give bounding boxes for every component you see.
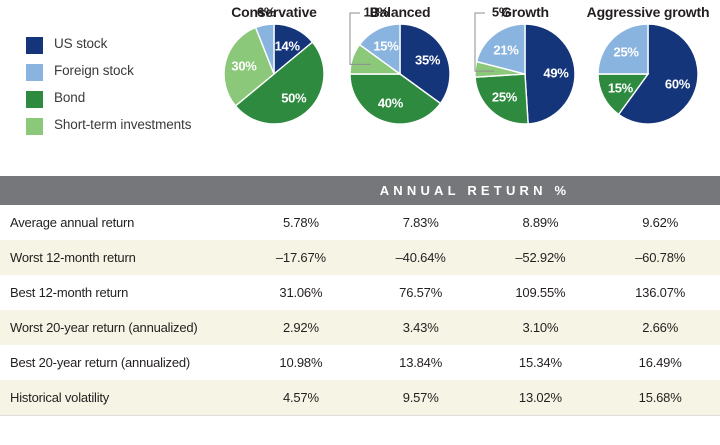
row-value-growth: 15.34% [481,345,601,380]
table-row: Worst 20-year return (annualized)2.92%3.… [0,310,720,345]
row-value-growth: 8.89% [481,205,601,240]
table-row: Average annual return5.78%7.83%8.89%9.62… [0,205,720,240]
pie-chart-growth: Growth 49%25%5%21% [455,0,595,128]
row-value-conservative: 5.78% [241,205,361,240]
pie-svg [471,20,579,128]
pie-chart-area: US stock Foreign stock Bond Short-term i… [0,0,720,176]
legend-label-us-stock: US stock [54,36,107,52]
pie-title-aggressive-growth: Aggressive growth [578,4,718,20]
legend-label-foreign-stock: Foreign stock [54,63,134,79]
returns-table: Average annual return5.78%7.83%8.89%9.62… [0,205,720,415]
row-value-growth: 3.10% [481,310,601,345]
row-label: Average annual return [0,205,241,240]
row-value-conservative: 4.57% [241,380,361,415]
pie-title-conservative: Conservative [204,4,344,20]
row-label: Historical volatility [0,380,241,415]
row-value-growth: 109.55% [481,275,601,310]
row-value-aggressive-growth: 2.66% [600,310,720,345]
row-value-conservative: 2.92% [241,310,361,345]
row-value-balanced: 13.84% [361,345,481,380]
table-footer-strip [0,415,720,434]
row-value-aggressive-growth: –60.78% [600,240,720,275]
row-value-balanced: 3.43% [361,310,481,345]
legend-item-short-term: Short-term investments [26,117,196,135]
returns-table-body: Average annual return5.78%7.83%8.89%9.62… [0,205,720,415]
pie-slice-foreign-stock [598,24,648,74]
row-value-growth: 13.02% [481,380,601,415]
pie-slice-us-stock [525,24,575,124]
pie-chart-conservative: Conservative 14%50%30%6% [204,0,344,128]
annual-return-table: ANNUAL RETURN % Average annual return5.7… [0,176,720,434]
pie-graphic-aggressive-growth: 60%15%25% [594,20,702,128]
row-value-conservative: 31.06% [241,275,361,310]
row-value-aggressive-growth: 15.68% [600,380,720,415]
pie-title-balanced: Balanced [330,4,470,20]
legend-swatch-short-term [26,118,43,135]
row-label: Best 12-month return [0,275,241,310]
legend-swatch-foreign-stock [26,64,43,81]
row-label: Worst 20-year return (annualized) [0,310,241,345]
pie-chart-aggressive-growth: Aggressive growth 60%15%25% [578,0,718,128]
legend-swatch-bond [26,91,43,108]
row-value-balanced: 7.83% [361,205,481,240]
row-value-balanced: –40.64% [361,240,481,275]
table-row: Best 12-month return31.06%76.57%109.55%1… [0,275,720,310]
row-value-balanced: 9.57% [361,380,481,415]
table-row: Historical volatility4.57%9.57%13.02%15.… [0,380,720,415]
table-row: Best 20-year return (annualized)10.98%13… [0,345,720,380]
row-value-aggressive-growth: 16.49% [600,345,720,380]
legend-label-short-term: Short-term investments [54,117,191,133]
row-value-aggressive-growth: 9.62% [600,205,720,240]
pie-svg [594,20,702,128]
table-header-title: ANNUAL RETURN % [0,183,720,198]
pie-svg [346,20,454,128]
pie-graphic-balanced: 35%40%10%15% [346,20,454,128]
row-label: Best 20-year return (annualized) [0,345,241,380]
pie-svg [220,20,328,128]
row-value-growth: –52.92% [481,240,601,275]
legend-label-bond: Bond [54,90,85,106]
chart-legend: US stock Foreign stock Bond Short-term i… [26,36,196,144]
legend-item-us-stock: US stock [26,36,196,54]
table-header-band: ANNUAL RETURN % [0,176,720,205]
legend-swatch-us-stock [26,37,43,54]
row-value-balanced: 76.57% [361,275,481,310]
pie-graphic-growth: 49%25%5%21% [471,20,579,128]
row-value-conservative: –17.67% [241,240,361,275]
pie-slice-bond [475,74,528,124]
row-value-conservative: 10.98% [241,345,361,380]
row-value-aggressive-growth: 136.07% [600,275,720,310]
pie-title-growth: Growth [455,4,595,20]
pie-chart-balanced: Balanced 35%40%10%15% [330,0,470,128]
legend-item-bond: Bond [26,90,196,108]
row-label: Worst 12-month return [0,240,241,275]
legend-item-foreign-stock: Foreign stock [26,63,196,81]
table-row: Worst 12-month return–17.67%–40.64%–52.9… [0,240,720,275]
pie-graphic-conservative: 14%50%30%6% [220,20,328,128]
